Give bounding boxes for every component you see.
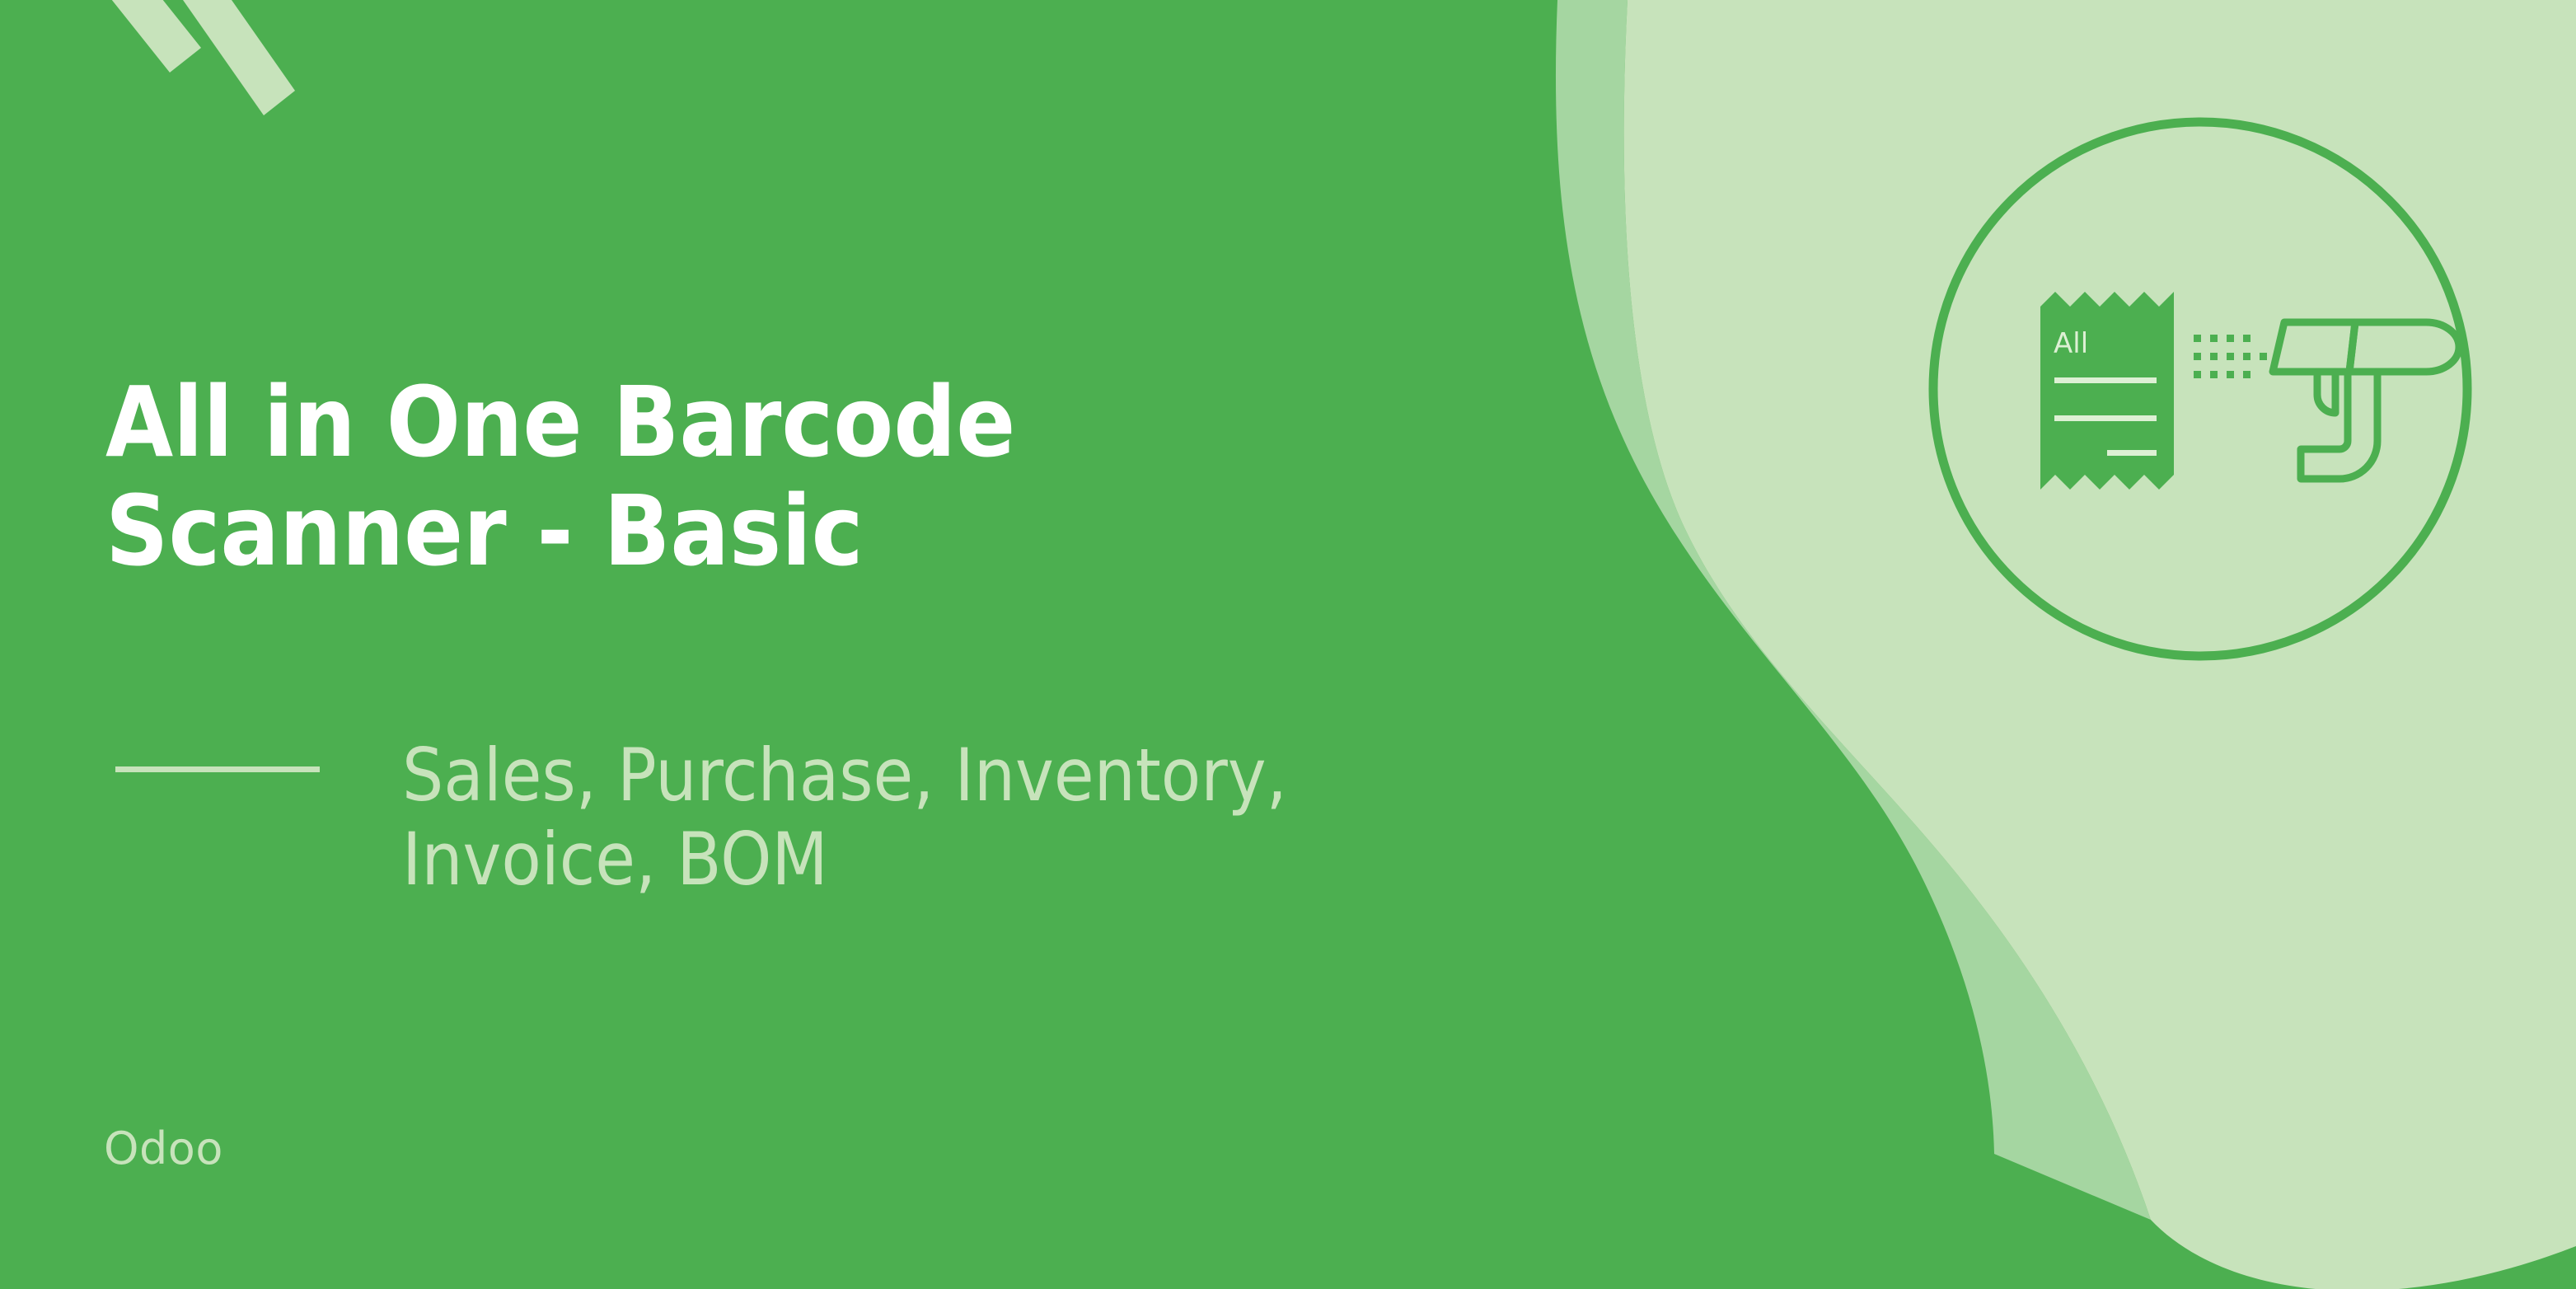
banner-content: All in One Barcode Scanner - Basic Sales… bbox=[0, 0, 2576, 1289]
subtitle-line-2: Invoice, BOM bbox=[402, 818, 1805, 902]
subtitle-line-1: Sales, Purchase, Inventory, bbox=[402, 734, 1805, 818]
title-line-2: Scanner - Basic bbox=[105, 476, 1506, 585]
subtitle-row: Sales, Purchase, Inventory, Invoice, BOM bbox=[115, 734, 1805, 902]
title-block: All in One Barcode Scanner - Basic bbox=[105, 368, 1506, 585]
rule-dash bbox=[115, 766, 320, 772]
subtitle-block: Sales, Purchase, Inventory, Invoice, BOM bbox=[402, 734, 1805, 902]
promo-banner: All bbox=[0, 0, 2576, 1289]
title-line-1: All in One Barcode bbox=[105, 368, 1506, 476]
footer-brand: Odoo bbox=[104, 1123, 223, 1174]
